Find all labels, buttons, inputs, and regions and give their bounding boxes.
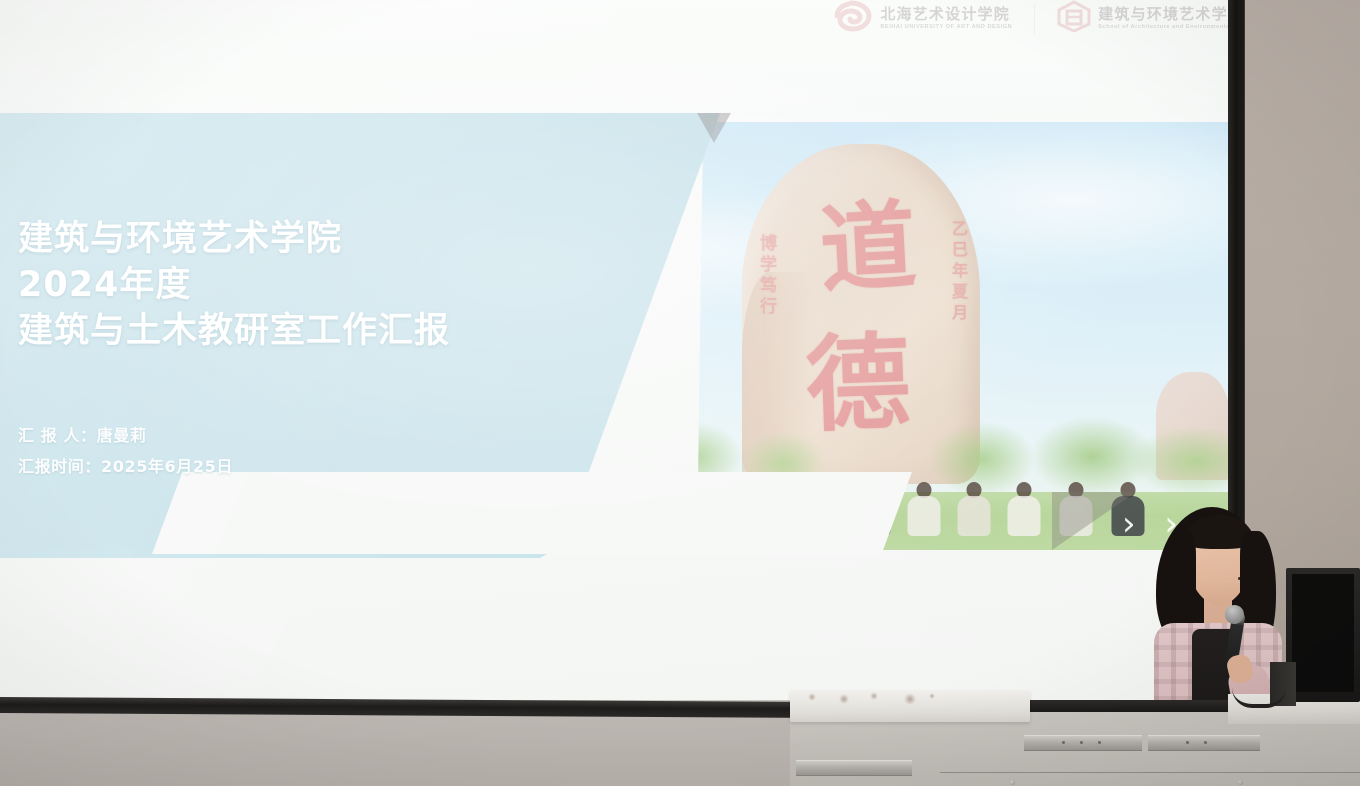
photo-student xyxy=(904,482,944,536)
logo-beihai-cn: 北海艺术设计学院 xyxy=(880,7,1012,22)
hexagon-building-icon xyxy=(1057,0,1091,37)
slide-triangle-accent-top xyxy=(697,113,731,143)
podium-drawer-seam xyxy=(940,772,1360,773)
podium-surface-stain xyxy=(800,692,940,704)
podium-screw xyxy=(1238,780,1243,785)
logo-beihai-text: 北海艺术设计学院 BEIHAI UNIVERSITY OF ART AND DE… xyxy=(880,7,1012,31)
slide-title-block: 建筑与环境艺术学院 2024年度 建筑与土木教研室工作汇报 xyxy=(18,216,450,355)
slide-title-line-3: 建筑与土木教研室工作汇报 xyxy=(18,308,450,354)
logo-divider xyxy=(1034,4,1035,34)
podium-monitor-screen xyxy=(1292,574,1354,692)
podium-drawer-rail[interactable] xyxy=(1024,735,1142,751)
slide-white-wedge xyxy=(152,472,912,554)
logo-school-en: School of Architecture and Environmental… xyxy=(1098,25,1244,31)
photo-student xyxy=(954,482,994,536)
photo-calligraphy-column-right: 乙巳年夏月 xyxy=(946,220,970,325)
projection-screen: 北海艺术设计学院 BEIHAI UNIVERSITY OF ART AND DE… xyxy=(0,0,1244,700)
logo-school-text: 建筑与环境艺术学院 School of Architecture and Env… xyxy=(1098,7,1244,31)
slide-triangle-accent-bottom xyxy=(1052,492,1136,550)
slide-logo-row: 北海艺术设计学院 BEIHAI UNIVERSITY OF ART AND DE… xyxy=(829,0,1244,37)
podium-drawer-rail[interactable] xyxy=(796,760,912,776)
photo-calligraphy-dao: 道 xyxy=(818,198,919,299)
slide-title-line-1: 建筑与环境艺术学院 xyxy=(18,216,450,262)
podium-screw xyxy=(1010,780,1015,785)
photo-student xyxy=(1004,482,1044,536)
logo-school-cn: 建筑与环境艺术学院 xyxy=(1098,7,1244,22)
screenshot-frame: 北海艺术设计学院 BEIHAI UNIVERSITY OF ART AND DE… xyxy=(0,0,1360,786)
logo-beihai-en: BEIHAI UNIVERSITY OF ART AND DESIGN xyxy=(880,25,1012,31)
slide-title-line-2: 2024年度 xyxy=(18,262,450,308)
presentation-slide: 北海艺术设计学院 BEIHAI UNIVERSITY OF ART AND DE… xyxy=(0,0,1244,700)
podium-dark-strip xyxy=(1010,700,1230,712)
photo-calligraphy-column-left: 博学笃行 xyxy=(754,234,779,318)
spiral-swirl-icon xyxy=(829,0,873,37)
slide-meta-presenter: 汇 报 人：唐曼莉 xyxy=(18,420,233,451)
slide-meta-block: 汇 报 人：唐曼莉 汇报时间：2025年6月25日 xyxy=(18,420,233,482)
slide-meta-date: 汇报时间：2025年6月25日 xyxy=(18,451,233,482)
logo-beihai-university: 北海艺术设计学院 BEIHAI UNIVERSITY OF ART AND DE… xyxy=(829,0,1012,37)
logo-school-architecture: 建筑与环境艺术学院 School of Architecture and Env… xyxy=(1057,0,1244,37)
